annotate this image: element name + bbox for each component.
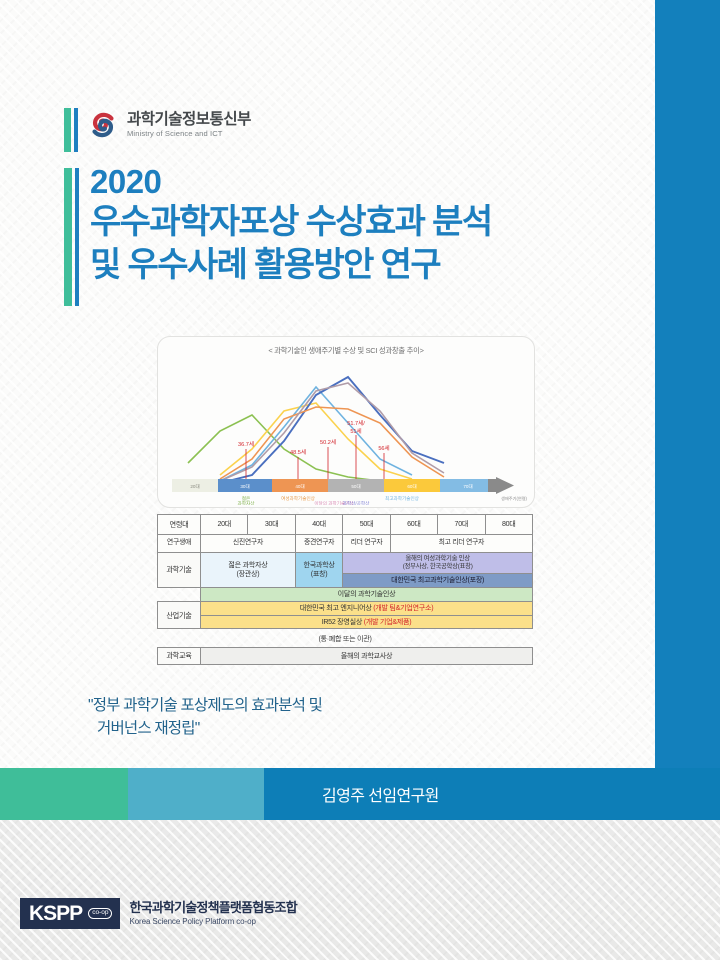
age-col-30: 30대 (248, 515, 295, 535)
subtitle-quote: "정부 과학기술 포상제도의 효과분석 및 거버넌스 재정립" (88, 694, 518, 741)
series-top-scientist-award (220, 377, 444, 483)
quote-line-1: "정부 과학기술 포상제도의 효과분석 및 (88, 697, 322, 714)
age-col-70: 70대 (438, 515, 485, 535)
table-row-industry-2: IR52 장영실상 (개발 기업&제품) (158, 615, 533, 629)
annotation-51: 51세 (350, 427, 361, 435)
career-stage-mid: 중견연구자 (295, 535, 342, 553)
annotation-36-7: 36.7세 (238, 440, 254, 448)
table-row-age-header: 연령대 20대 30대 40대 50대 60대 70대 80대 (158, 515, 533, 535)
chart-age-axis: 20대 30대 40대 50대 60대 70대 생애주기(연령) (172, 477, 528, 502)
annotation-56: 56세 (378, 444, 389, 452)
page-root: 과학기술정보통신부 Ministry of Science and ICT 20… (0, 0, 720, 960)
age-col-20: 20대 (201, 515, 248, 535)
axis-band-20: 20대 (190, 483, 199, 490)
org-name-en: Korea Science Policy Platform co-op (129, 917, 296, 926)
row-label-industry: 산업기술 (158, 601, 201, 629)
author-name: 김영주 선임연구원 (264, 768, 720, 820)
age-col-40: 40대 (295, 515, 342, 535)
cell-korsci-line2: (표창) (311, 570, 328, 578)
career-stage-top: 최고 리더 연구자 (390, 535, 532, 553)
marker-top-award: 최고과학기술인상 (385, 495, 420, 502)
cell-engineer-red: (개발 팀&기업연구소) (373, 604, 433, 612)
table-row-scitech-1: 과학기술 젊은 과학자상 (장관상) 한국과학상 (표창) 올해의 여성과학기술… (158, 553, 533, 574)
age-col-80: 80대 (485, 515, 532, 535)
cell-young-line2: (장관상) (237, 570, 260, 578)
ministry-name-en: Ministry of Science and ICT (127, 130, 251, 138)
cell-young-scientist-award: 젊은 과학자상 (장관상) (201, 553, 296, 588)
cell-woman-line1: 올해의 여성과학기술 인상 (405, 555, 469, 562)
career-stage-new: 신진연구자 (201, 535, 296, 553)
cell-korea-science-award: 한국과학상 (표창) (295, 553, 342, 588)
table-row-monthly: 이달의 과학기술인상 (158, 587, 533, 601)
annotation-50-2: 50.2세 (320, 438, 336, 446)
cell-engineer-award: 대한민국 최고 엔지니어상 (개발 팀&기업연구소) (201, 601, 533, 615)
footer-band-cyan (128, 768, 264, 820)
cell-young-line1: 젊은 과학자상 (228, 561, 267, 569)
award-matrix-table: 연령대 20대 30대 40대 50대 60대 70대 80대 연구생애 신진연… (157, 514, 533, 629)
cell-science-teacher-award: 올해의 과학교사상 (201, 648, 533, 665)
cell-ir52-award: IR52 장영실상 (개발 기업&제품) (201, 615, 533, 629)
award-matrix: 연령대 20대 30대 40대 50대 60대 70대 80대 연구생애 신진연… (157, 514, 533, 665)
cell-woman-line2: (정부사상, 한국공학상(표창) (403, 563, 473, 570)
chart-award-markers: 젊은 과학자상 여성과학기술인상 이달의 과학기술인상 과학상/공학상 최고과학… (238, 495, 420, 505)
kspp-coop-badge: co-op (88, 908, 112, 919)
logo-accent-bar-green (64, 108, 71, 152)
education-table: 과학교육 올해의 과학교사상 (157, 647, 533, 665)
taeguk-icon (88, 110, 118, 140)
row-label-spacer (158, 587, 201, 601)
table-row-industry-1: 산업기술 대한민국 최고 엔지니어상 (개발 팀&기업연구소) (158, 601, 533, 615)
annotation-48-5: 48.5세 (290, 448, 306, 456)
title-line-1: 우수과학자포상 수상효과 분석 (90, 201, 650, 244)
kspp-footer: KSPP co-op 한국과학기술정책플랫폼협동조합 Korea Science… (20, 898, 297, 929)
right-blue-band (655, 0, 720, 820)
table-row-career: 연구생애 신진연구자 중견연구자 리더 연구자 최고 리더 연구자 (158, 535, 533, 553)
axis-band-30: 30대 (240, 483, 249, 490)
page-title: 2020 우수과학자포상 수상효과 분석 및 우수사례 활용방안 연구 (90, 164, 650, 287)
series-sci-output (220, 383, 444, 481)
kspp-wordmark: KSPP (29, 903, 82, 924)
row-label-education: 과학교육 (158, 648, 201, 665)
axis-band-70: 70대 (463, 483, 472, 490)
marker-young-award-l2: 과학자상 (238, 500, 256, 505)
figure-panel: < 과학기술인 생애주기별 수상 및 SCI 성과창출 추이> 36.7세 48… (157, 336, 535, 508)
cell-korsci-line1: 한국과학상 (303, 561, 334, 569)
age-col-50: 50대 (343, 515, 390, 535)
age-col-60: 60대 (390, 515, 437, 535)
kspp-logo: KSPP co-op (20, 898, 120, 929)
axis-band-50: 50대 (351, 483, 360, 490)
cell-ir52-main: IR52 장영실상 (322, 618, 364, 626)
marker-woman-award: 여성과학기술인상 (281, 495, 316, 502)
row-label-career: 연구생애 (158, 535, 201, 553)
title-accent-bar-blue (75, 168, 79, 306)
org-name-ko: 한국과학기술정책플랫폼협동조합 (129, 901, 296, 916)
footer-band-green (0, 768, 128, 820)
title-accent-bar-green (64, 168, 72, 306)
cell-woman-scientist-award: 올해의 여성과학기술 인상 (정부사상, 한국공학상(표창) (343, 553, 533, 574)
quote-line-2: 거버넌스 재정립" (88, 717, 518, 740)
row-label-age: 연령대 (158, 515, 201, 535)
cell-engineer-main: 대한민국 최고 엔지니어상 (300, 604, 374, 612)
lifecycle-line-chart: 36.7세 48.5세 50.2세 51.7세/ 51세 56세 (158, 353, 534, 505)
axis-band-40: 40대 (295, 483, 304, 490)
ministry-logo: 과학기술정보통신부 Ministry of Science and ICT (88, 110, 251, 140)
ministry-name-ko: 과학기술정보통신부 (127, 112, 251, 128)
table-row-education: 과학교육 올해의 과학교사상 (158, 648, 533, 665)
axis-band-60: 60대 (407, 483, 416, 490)
cell-monthly-award: 이달의 과학기술인상 (201, 587, 533, 601)
title-year: 2020 (90, 164, 650, 201)
series-korea-science-award (220, 387, 412, 481)
cell-ir52-red: (개발 기업&제품) (364, 618, 412, 626)
annotation-51-7: 51.7세/ (347, 419, 365, 427)
row-label-scitech: 과학기술 (158, 553, 201, 588)
marker-science-eng-award: 과학상/공학상 (343, 500, 370, 505)
cell-top-scientist-award: 대한민국 최고과학기술인상(포장) (343, 574, 533, 588)
chart-series-group (188, 377, 444, 483)
merge-note: (통·폐합 또는 이관) (157, 629, 533, 647)
title-line-2: 및 우수사례 활용방안 연구 (90, 244, 650, 287)
logo-accent-bar-blue (74, 108, 78, 152)
career-stage-leader: 리더 연구자 (343, 535, 390, 553)
axis-label-lifecycle: 생애주기(연령) (501, 495, 528, 502)
